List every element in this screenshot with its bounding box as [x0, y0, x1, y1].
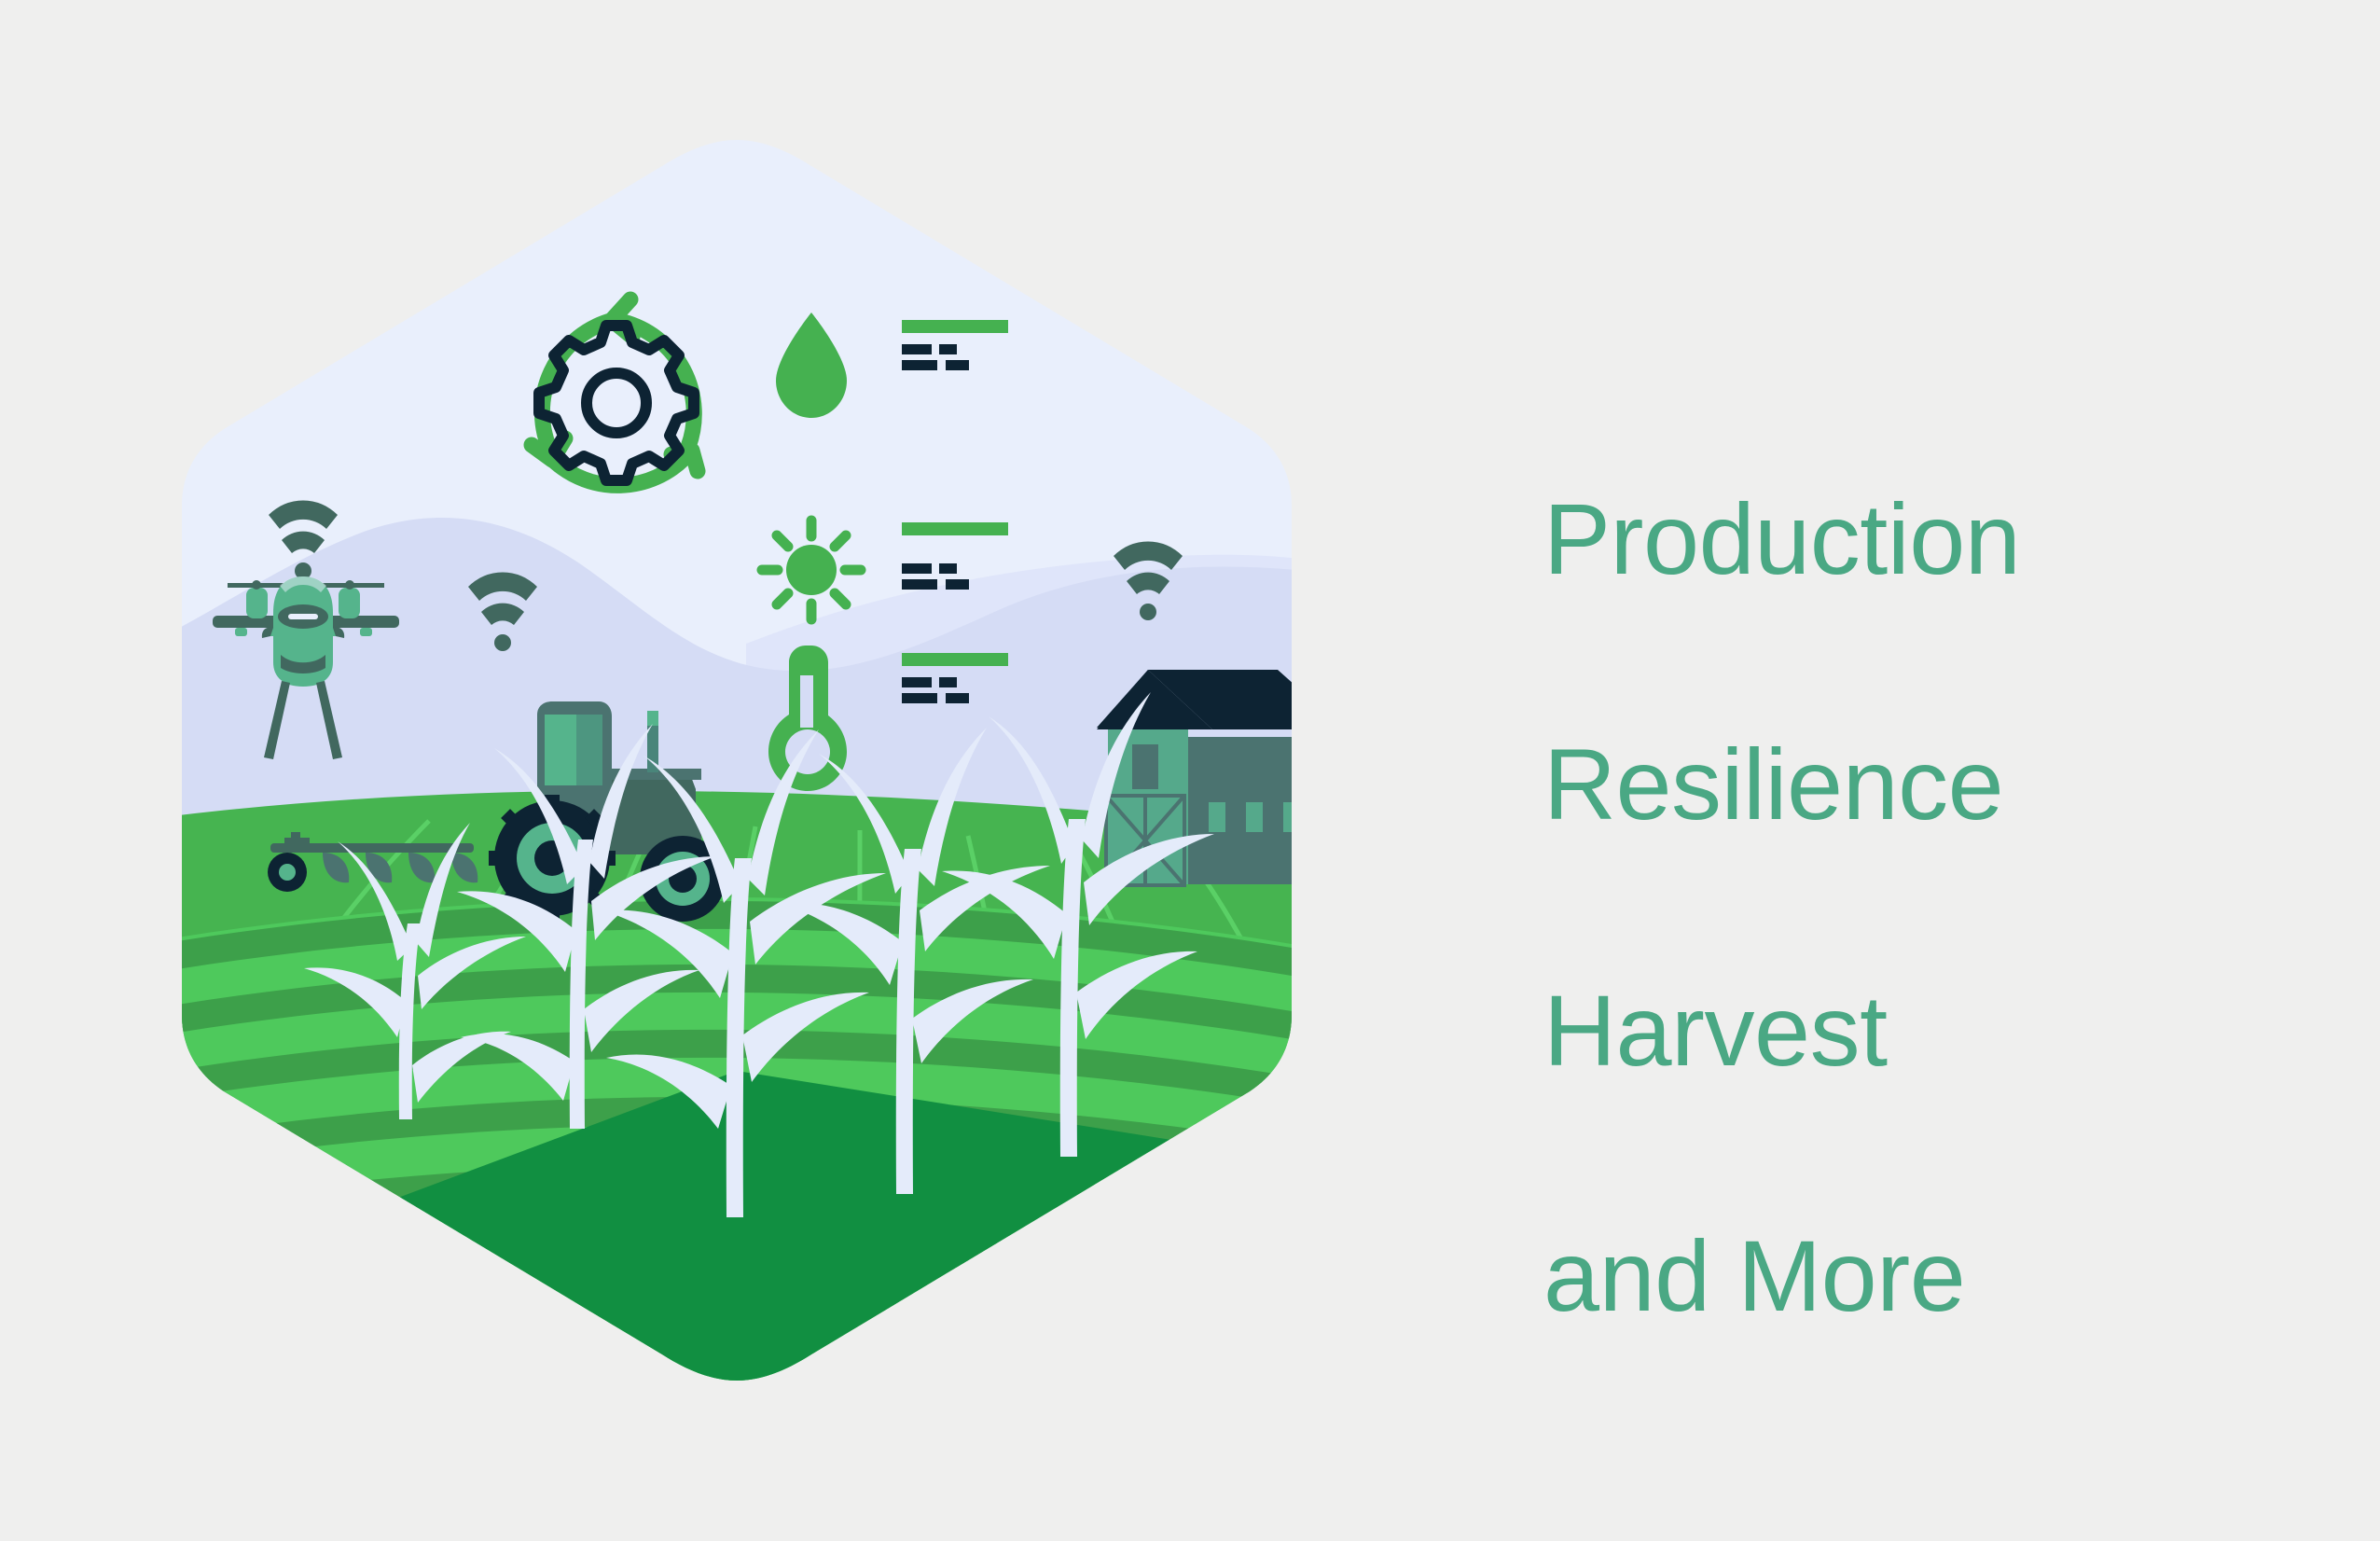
headline-line-1: Production [1543, 478, 2308, 601]
barn-hay-door [1132, 744, 1158, 789]
data-text-line-3b [939, 677, 957, 687]
data-text-line-1a [902, 344, 932, 354]
data-text-line-3d [946, 693, 969, 703]
headline-line-3: Harvest [1543, 969, 2308, 1092]
data-text-line-2b [939, 563, 957, 574]
data-text-line-1d [946, 360, 969, 370]
page-title: Production Resilience Harvest and More [1543, 354, 2308, 1461]
drone-motor-right [339, 588, 360, 618]
page-root: Production Resilience Harvest and More [0, 0, 2380, 1541]
data-text-line-2d [946, 579, 969, 590]
data-text-line-3a [902, 677, 932, 687]
data-bar-fill-3 [902, 653, 1008, 666]
drone-motor-left [246, 588, 268, 618]
headline-line-4: and More [1543, 1215, 2308, 1338]
data-text-line-3c [902, 693, 937, 703]
hero-illustration [168, 121, 1306, 1399]
headline-line-2: Resilience [1543, 723, 2308, 846]
barn-windows [1209, 802, 1306, 832]
data-text-line-1b [939, 344, 957, 354]
sun-icon-core [786, 545, 837, 595]
data-text-line-2a [902, 563, 932, 574]
data-bar-fill-1 [902, 320, 1008, 333]
data-text-line-2c [902, 579, 937, 590]
tractor-cab-glass-shade [576, 715, 602, 785]
data-text-line-1c [902, 360, 937, 370]
data-bar-fill-2 [902, 522, 1008, 535]
